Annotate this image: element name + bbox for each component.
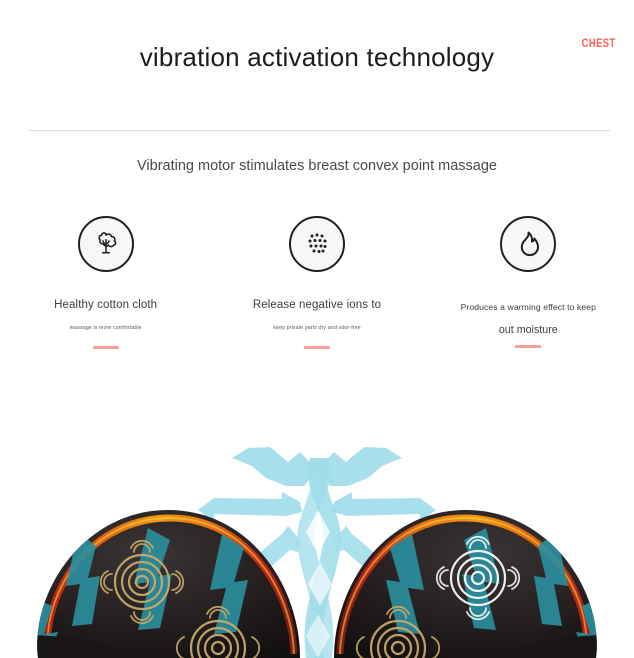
feature-subtext: keep private parts dry and odor-free: [273, 324, 361, 333]
feature-title: Produces a warming effect to keep: [461, 301, 596, 314]
feature-list: Healthy cotton cloth massage is more com…: [0, 216, 634, 349]
feature-accent-dash: [304, 346, 330, 349]
brand-tag: CHEST: [582, 36, 616, 50]
feature-title: Healthy cotton cloth: [54, 298, 157, 313]
hero-product-image: [0, 400, 634, 658]
feature-subtext: massage is more comfortable: [70, 324, 142, 333]
flame-icon: [500, 216, 556, 272]
feature-item-negative-ions: Release negative ions to keep private pa…: [211, 216, 422, 349]
negative-ions-dots-icon: [289, 216, 345, 272]
feature-item-cotton: Healthy cotton cloth massage is more com…: [0, 216, 211, 349]
subtitle: Vibrating motor stimulates breast convex…: [0, 156, 634, 176]
page-header: vibration activation technology CHEST: [0, 0, 634, 131]
page-title: vibration activation technology: [0, 40, 634, 74]
cotton-plant-icon: [78, 216, 134, 272]
feature-accent-dash: [93, 346, 119, 349]
feature-accent-dash: [515, 345, 541, 348]
feature-subtext: out moisture: [499, 326, 558, 335]
feature-item-warming: Produces a warming effect to keep out mo…: [423, 216, 634, 349]
header-divider: [28, 130, 610, 131]
feature-title: Release negative ions to: [253, 298, 381, 313]
